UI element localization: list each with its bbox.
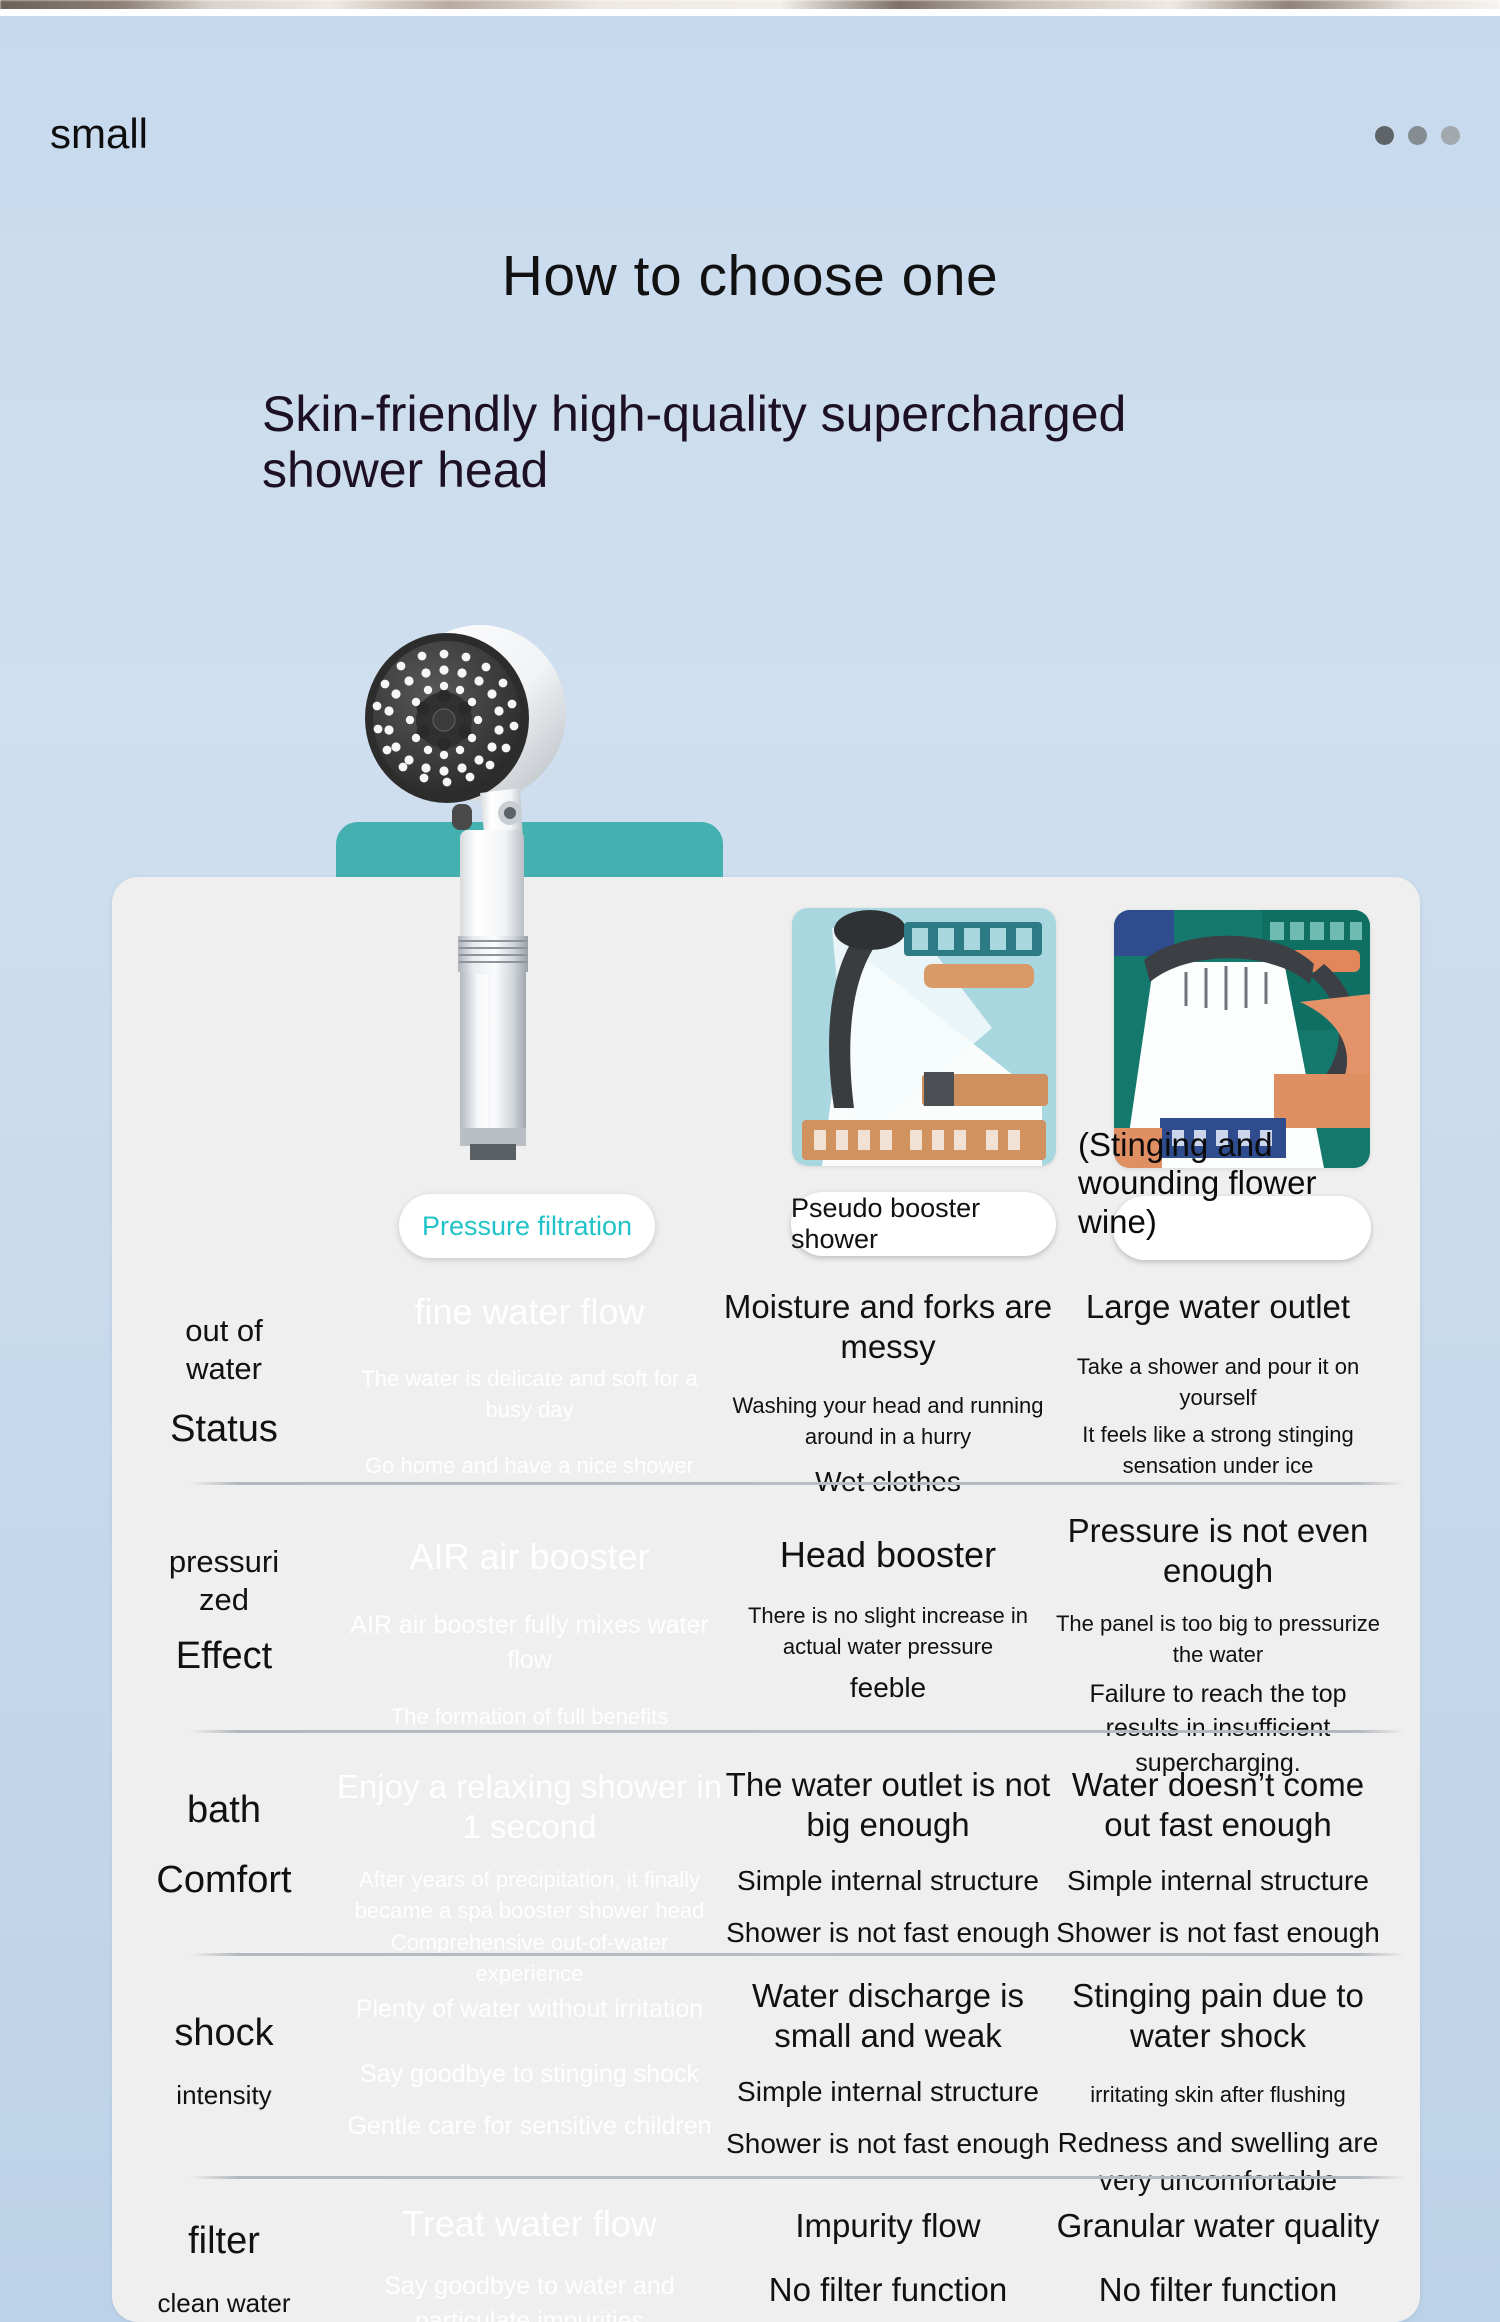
row-label-line: filter bbox=[112, 2218, 336, 2264]
row-label-line: clean water bbox=[112, 2288, 336, 2320]
dot-icon-2 bbox=[1408, 126, 1427, 145]
primary-cell-4: Plenty of water without irritation Say g… bbox=[336, 1992, 723, 2144]
primary-cell-1: fine water flow The water is delicate an… bbox=[336, 1290, 723, 1481]
cell-sub: Say goodbye to stinging shock bbox=[336, 2057, 723, 2092]
cell-sub: No filter function bbox=[1053, 2270, 1383, 2310]
row-separator bbox=[190, 1953, 1405, 1956]
row-label-line: out of bbox=[112, 1312, 336, 1350]
row-label-line: zed bbox=[112, 1581, 336, 1619]
row-separator bbox=[190, 2176, 1405, 2179]
cell-sub: Simple internal structure bbox=[723, 1862, 1053, 1900]
cell-sub: irritating skin after flushing bbox=[1053, 2079, 1383, 2110]
row-label-2: pressuri zed Effect bbox=[112, 1543, 336, 1679]
row-label-5: filter clean water bbox=[112, 2218, 336, 2320]
page-tab-label: small bbox=[50, 110, 148, 158]
third-cell-3: Water doesn’t come out fast enough Simpl… bbox=[1053, 1765, 1383, 1952]
cell-sub: Take a shower and pour it on yourself bbox=[1053, 1351, 1383, 1413]
cell-sub: AIR air booster fully mixes water flow bbox=[336, 1608, 723, 1677]
cell-heading: Plenty of water without irritation bbox=[336, 1992, 723, 2027]
cell-sub: After years of precipitation, it finally… bbox=[336, 1864, 723, 1926]
row-label-line: Status bbox=[112, 1406, 336, 1452]
row-label-line: water bbox=[112, 1350, 336, 1388]
cell-sub: Washing your head and running around in … bbox=[723, 1390, 1053, 1452]
cell-heading: Treat water flow bbox=[336, 2202, 723, 2245]
row-label-3: bath Comfort bbox=[112, 1787, 336, 1904]
table-row: out of water Status fine water flow The … bbox=[112, 1290, 1420, 1490]
second-cell-3: The water outlet is not big enough Simpl… bbox=[723, 1765, 1053, 1952]
table-row: pressuri zed Effect AIR air booster AIR … bbox=[112, 1505, 1420, 1720]
cell-heading: Enjoy a relaxing shower in 1 second bbox=[336, 1767, 723, 1846]
cell-sub: The panel is too big to pressurize the w… bbox=[1053, 1608, 1383, 1670]
page-subtitle: Skin-friendly high-quality supercharged … bbox=[262, 386, 1162, 498]
cell-sub: There is no slight increase in actual wa… bbox=[723, 1600, 1053, 1662]
cell-sub: The water is delicate and soft for a bus… bbox=[336, 1363, 723, 1425]
row-label-1: out of water Status bbox=[112, 1312, 336, 1452]
cell-sub: Shower is not fast enough bbox=[1053, 1914, 1383, 1952]
cell-heading: fine water flow bbox=[336, 1290, 723, 1333]
cell-sub: It feels like a strong stinging sensatio… bbox=[1053, 1419, 1383, 1481]
cell-heading: Stinging pain due to water shock bbox=[1053, 1976, 1383, 2055]
second-cell-2: Head booster There is no slight increase… bbox=[723, 1533, 1053, 1706]
cell-sub: Say goodbye to water and particulate imp… bbox=[336, 2269, 723, 2322]
row-separator bbox=[190, 1730, 1405, 1733]
cell-heading: Water doesn’t come out fast enough bbox=[1053, 1765, 1383, 1844]
table-row: filter clean water Treat water flow Say … bbox=[112, 2190, 1420, 2322]
cell-heading: AIR air booster bbox=[336, 1535, 723, 1578]
dot-icon-1 bbox=[1375, 126, 1394, 145]
cell-sub: feeble bbox=[723, 1669, 1053, 1707]
competitor-b-thumbnail bbox=[792, 908, 1056, 1166]
third-cell-4: Stinging pain due to water shock irritat… bbox=[1053, 1976, 1383, 2200]
page-title: How to choose one bbox=[0, 243, 1500, 309]
row-label-line: pressuri bbox=[112, 1543, 336, 1581]
row-label-line: shock bbox=[112, 2010, 336, 2056]
row-label-line: intensity bbox=[112, 2080, 336, 2112]
cell-sub: Simple internal structure bbox=[723, 2073, 1053, 2111]
pill-pressure-filtration[interactable]: Pressure filtration bbox=[399, 1194, 655, 1258]
cell-heading: Head booster bbox=[723, 1533, 1053, 1576]
competitor-c-note: (Stinging and wounding flower wine) bbox=[1078, 1126, 1398, 1241]
pill-pseudo-booster-shower[interactable]: Pseudo booster shower bbox=[791, 1192, 1056, 1256]
cell-heading: Impurity flow bbox=[723, 2206, 1053, 2246]
second-cell-4: Water discharge is small and weak Simple… bbox=[723, 1976, 1053, 2163]
cell-sub: Shower is not fast enough bbox=[723, 2125, 1053, 2163]
cell-sub: Redness and swelling are very uncomforta… bbox=[1053, 2124, 1383, 2200]
cell-heading: Water discharge is small and weak bbox=[723, 1976, 1053, 2055]
row-label-line: Effect bbox=[112, 1633, 336, 1679]
dot-icon-3 bbox=[1441, 126, 1460, 145]
cell-heading: Pressure is not even enough bbox=[1053, 1511, 1383, 1590]
primary-cell-2: AIR air booster AIR air booster fully mi… bbox=[336, 1535, 723, 1732]
cell-sub: Shower is not fast enough bbox=[723, 1914, 1053, 1952]
third-cell-1: Large water outlet Take a shower and pou… bbox=[1053, 1287, 1383, 1482]
cell-heading: Large water outlet bbox=[1053, 1287, 1383, 1327]
primary-cell-5: Treat water flow Say goodbye to water an… bbox=[336, 2202, 723, 2322]
row-label-line: Comfort bbox=[112, 1857, 336, 1903]
page-root: small How to choose one Skin-friendly hi… bbox=[0, 0, 1500, 2322]
cell-sub: Go home and have a nice shower bbox=[336, 1450, 723, 1481]
menu-dots[interactable] bbox=[1375, 126, 1460, 145]
cell-sub: The formation of full benefits bbox=[336, 1701, 723, 1732]
cell-heading: Moisture and forks are messy bbox=[723, 1287, 1053, 1366]
cell-heading: The water outlet is not big enough bbox=[723, 1765, 1053, 1844]
second-cell-1: Moisture and forks are messy Washing you… bbox=[723, 1287, 1053, 1500]
row-separator bbox=[190, 1482, 1405, 1485]
shower-head-product-image bbox=[352, 608, 598, 1168]
second-cell-5: Impurity flow No filter function bbox=[723, 2206, 1053, 2309]
table-row: bath Comfort Enjoy a relaxing shower in … bbox=[112, 1745, 1420, 1965]
third-cell-5: Granular water quality No filter functio… bbox=[1053, 2206, 1383, 2309]
browser-chrome-gap bbox=[0, 9, 1500, 16]
cell-heading: Granular water quality bbox=[1053, 2206, 1383, 2246]
row-label-line: bath bbox=[112, 1787, 336, 1833]
third-cell-2: Pressure is not even enough The panel is… bbox=[1053, 1511, 1383, 1780]
cell-sub: Simple internal structure bbox=[1053, 1862, 1383, 1900]
cell-sub: No filter function bbox=[723, 2270, 1053, 2310]
cell-sub: Gentle care for sensitive children bbox=[336, 2109, 723, 2144]
row-label-4: shock intensity bbox=[112, 2010, 336, 2112]
table-row: shock intensity Plenty of water without … bbox=[112, 1968, 1420, 2178]
